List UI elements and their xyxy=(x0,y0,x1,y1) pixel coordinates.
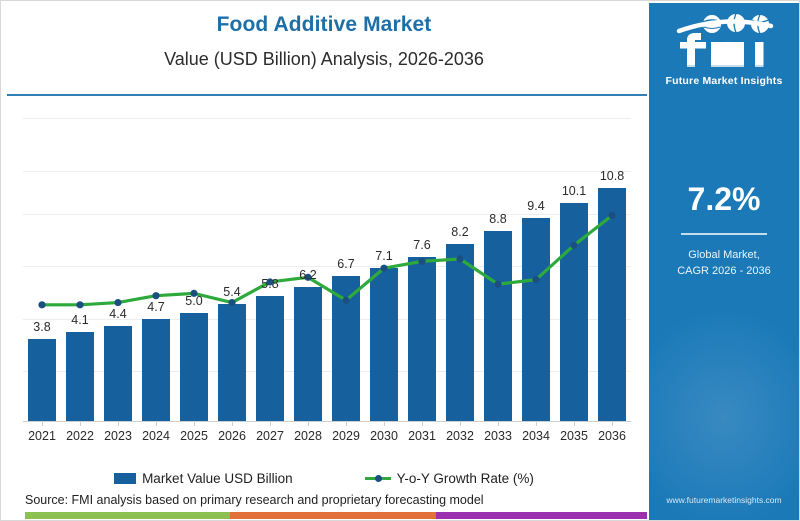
brand-sidebar: Future Market Insights 7.2% Global Marke… xyxy=(649,3,799,520)
x-tick-2024 xyxy=(156,421,157,426)
x-tick-2035 xyxy=(574,421,575,426)
legend-item-growth-rate[interactable]: Y-o-Y Growth Rate (%) xyxy=(365,471,534,486)
header-divider xyxy=(7,94,647,96)
bar-label-2021: 3.8 xyxy=(23,320,61,334)
x-axis-label-2025: 2025 xyxy=(175,429,213,443)
x-tick-2026 xyxy=(232,421,233,426)
x-tick-2028 xyxy=(308,421,309,426)
x-axis-label-2023: 2023 xyxy=(99,429,137,443)
stripe-segment-purple xyxy=(436,512,647,519)
bar-label-2022: 4.1 xyxy=(61,313,99,327)
fmi-logo-tagline: Future Market Insights xyxy=(649,75,799,87)
fmi-logo[interactable]: Future Market Insights xyxy=(649,11,799,87)
x-tick-2021 xyxy=(42,421,43,426)
cagr-caption: Global Market, CAGR 2026 - 2036 xyxy=(649,247,799,279)
x-tick-2034 xyxy=(536,421,537,426)
source-note: Source: FMI analysis based on primary re… xyxy=(25,493,484,507)
bar-swatch-icon xyxy=(114,473,136,484)
bar-label-2025: 5.0 xyxy=(175,294,213,308)
bar-label-2029: 6.7 xyxy=(327,257,365,271)
page-title: Food Additive Market xyxy=(1,13,647,37)
x-axis-label-2028: 2028 xyxy=(289,429,327,443)
stripe-segment-green xyxy=(25,512,230,519)
x-tick-2036 xyxy=(612,421,613,426)
x-tick-2027 xyxy=(270,421,271,426)
bar-data-labels: 3.84.14.44.75.05.45.86.26.77.17.68.28.89… xyxy=(23,114,631,421)
x-tick-2029 xyxy=(346,421,347,426)
legend-label-market-value: Market Value USD Billion xyxy=(142,471,293,486)
x-axis-label-2024: 2024 xyxy=(137,429,175,443)
x-axis-label-2030: 2030 xyxy=(365,429,403,443)
x-tick-2025 xyxy=(194,421,195,426)
cagr-value: 7.2% xyxy=(649,181,799,218)
sidebar-glow-decoration xyxy=(649,303,799,520)
bar-label-2024: 4.7 xyxy=(137,300,175,314)
x-tick-2031 xyxy=(422,421,423,426)
bar-label-2034: 9.4 xyxy=(517,199,555,213)
x-axis-label-2032: 2032 xyxy=(441,429,479,443)
x-tick-2030 xyxy=(384,421,385,426)
x-tick-2033 xyxy=(498,421,499,426)
x-axis-label-2035: 2035 xyxy=(555,429,593,443)
bar-label-2028: 6.2 xyxy=(289,268,327,282)
chart-infographic: Food Additive Market Value (USD Billion)… xyxy=(0,0,800,521)
x-tick-2032 xyxy=(460,421,461,426)
chart-subtitle: Value (USD Billion) Analysis, 2026-2036 xyxy=(1,49,647,70)
x-axis-line xyxy=(23,421,631,422)
plot-area: 3.84.14.44.75.05.45.86.26.77.17.68.28.89… xyxy=(23,114,631,421)
cagr-divider xyxy=(681,233,767,235)
bar-label-2035: 10.1 xyxy=(555,184,593,198)
cagr-caption-line1: Global Market, xyxy=(649,247,799,263)
bar-label-2030: 7.1 xyxy=(365,249,403,263)
bar-label-2033: 8.8 xyxy=(479,212,517,226)
x-axis-label-2029: 2029 xyxy=(327,429,365,443)
bar-label-2026: 5.4 xyxy=(213,285,251,299)
website-url[interactable]: www.futuremarketinsights.com xyxy=(649,495,799,505)
x-tick-2023 xyxy=(118,421,119,426)
x-axis-label-2031: 2031 xyxy=(403,429,441,443)
cagr-caption-line2: CAGR 2026 - 2036 xyxy=(649,263,799,279)
bar-label-2023: 4.4 xyxy=(99,307,137,321)
stripe-segment-orange xyxy=(230,512,435,519)
x-axis-label-2021: 2021 xyxy=(23,429,61,443)
chart-legend: Market Value USD Billion Y-o-Y Growth Ra… xyxy=(1,471,647,486)
bar-label-2027: 5.8 xyxy=(251,277,289,291)
legend-label-growth-rate: Y-o-Y Growth Rate (%) xyxy=(397,471,534,486)
x-axis-label-2036: 2036 xyxy=(593,429,631,443)
legend-item-market-value[interactable]: Market Value USD Billion xyxy=(114,471,293,486)
bar-label-2031: 7.6 xyxy=(403,238,441,252)
bottom-color-stripe xyxy=(25,512,647,519)
x-tick-2022 xyxy=(80,421,81,426)
bar-label-2032: 8.2 xyxy=(441,225,479,239)
x-axis-label-2022: 2022 xyxy=(61,429,99,443)
bar-label-2036: 10.8 xyxy=(593,169,631,183)
x-axis-label-2033: 2033 xyxy=(479,429,517,443)
fmi-logo-icon xyxy=(664,11,784,73)
x-axis-label-2027: 2027 xyxy=(251,429,289,443)
x-axis-label-2026: 2026 xyxy=(213,429,251,443)
chart-header: Food Additive Market Value (USD Billion)… xyxy=(1,1,647,96)
line-swatch-icon xyxy=(365,473,391,484)
x-axis-label-2034: 2034 xyxy=(517,429,555,443)
